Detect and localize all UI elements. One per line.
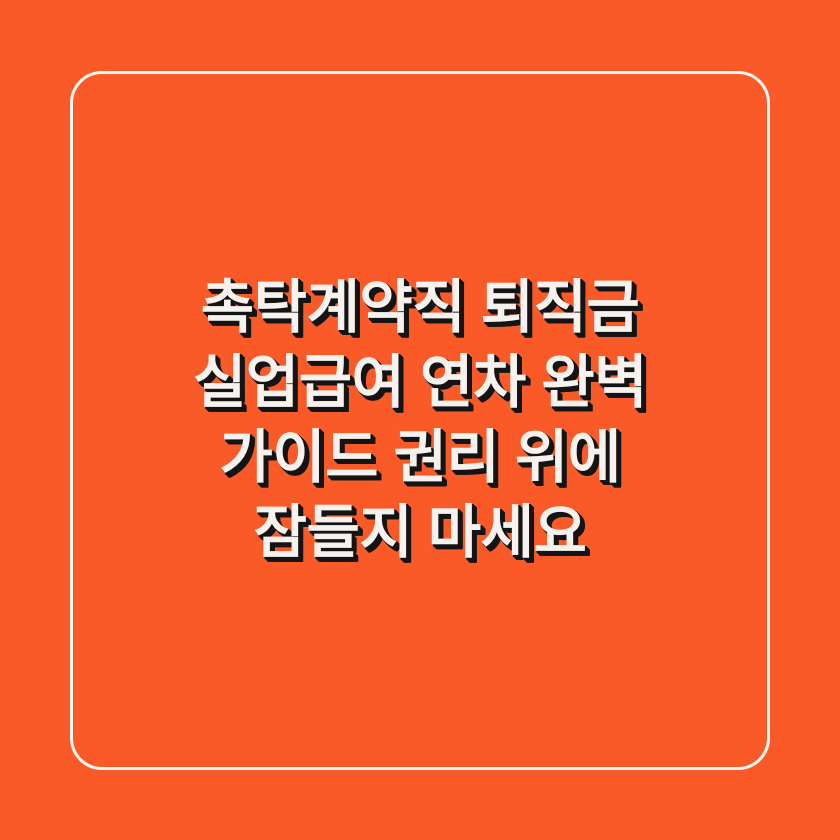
headline-block: 촉탁계약직 퇴직금 실업급여 연차 완벽 가이드 권리 위에 잠들지 마세요 — [0, 0, 840, 840]
headline-line-2: 실업급여 연차 완벽 — [76, 345, 764, 420]
headline-line-4: 잠들지 마세요 — [76, 495, 764, 570]
headline-line-3: 가이드 권리 위에 — [76, 420, 764, 495]
headline-line-1: 촉탁계약직 퇴직금 — [76, 270, 764, 345]
thumbnail-card: 촉탁계약직 퇴직금 실업급여 연차 완벽 가이드 권리 위에 잠들지 마세요 — [0, 0, 840, 840]
